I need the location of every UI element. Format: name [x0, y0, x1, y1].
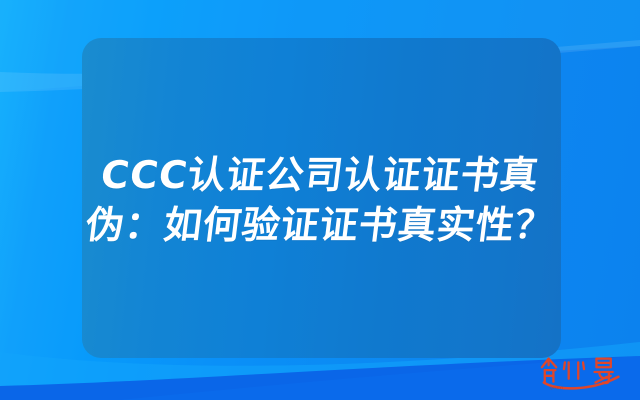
brand-watermark: QIYEYI — [536, 350, 632, 394]
banner-image: CCC认证公司认证证书真 伪：如何验证证书真实性？ — [0, 0, 640, 400]
logo-subtext: QIYEYI — [550, 385, 563, 390]
title-block: CCC认证公司认证证书真 伪：如何验证证书真实性？ — [70, 150, 570, 250]
title-line-2: 伪：如何验证证书真实性？ — [67, 200, 573, 250]
title-line-1: CCC认证公司认证证书真 — [67, 150, 573, 200]
qiyeyi-logo-icon: QIYEYI — [536, 350, 632, 394]
